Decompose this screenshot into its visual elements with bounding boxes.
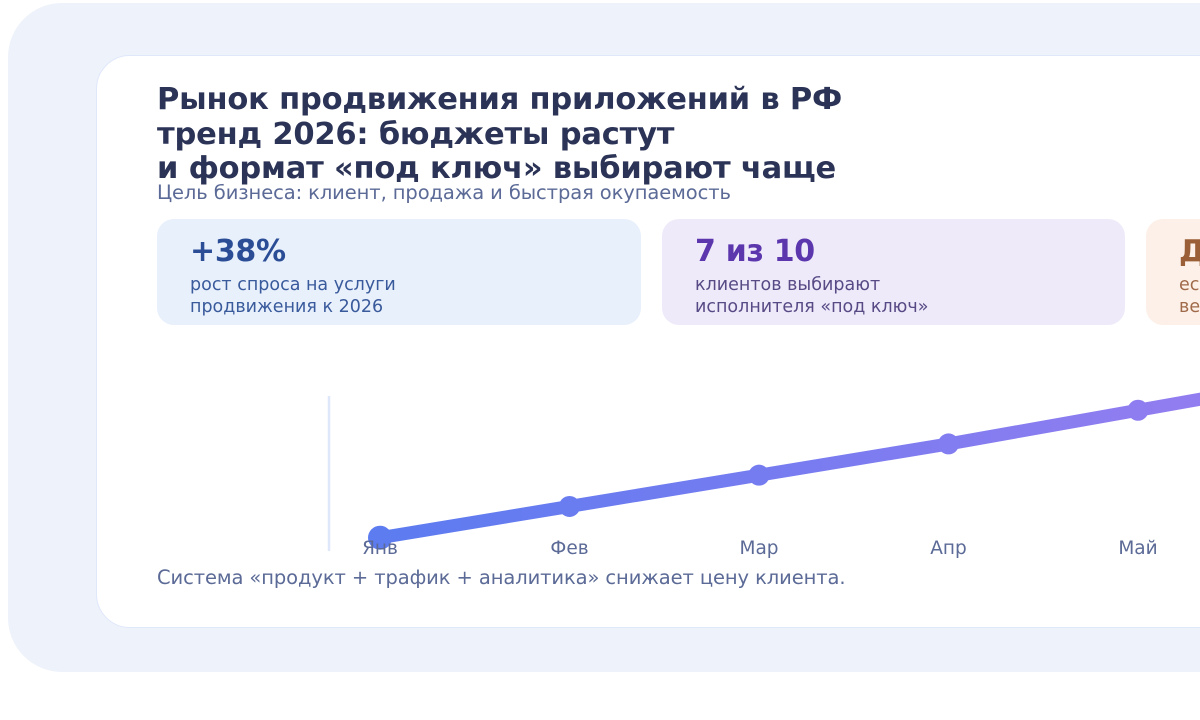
stat-value: +38% <box>190 234 619 270</box>
chart-marker <box>749 465 770 486</box>
chart-marker <box>559 496 580 517</box>
stat-value: 7 из 10 <box>695 234 1103 270</box>
chart-series-line <box>380 377 1200 538</box>
chart-svg <box>157 341 1200 551</box>
chart-x-tick-label: Мар <box>739 537 778 561</box>
chart-x-tick-label: Янв <box>362 537 398 561</box>
outer-shell: Рынок продвижения приложений в РФ тренд … <box>8 3 1200 672</box>
stat-card-turnkey: 7 из 10 клиентов выбирают исполнителя «п… <box>662 219 1125 325</box>
chart-marker <box>1128 400 1149 421</box>
slide-card: Рынок продвижения приложений в РФ тренд … <box>96 55 1200 628</box>
chart-x-tick-label: Фев <box>550 537 588 561</box>
stats-row: +38% рост спроса на услуги продвижения к… <box>157 219 1200 325</box>
chart-x-tick-label: Май <box>1118 537 1157 561</box>
stat-card-third: Д ес ве <box>1146 219 1200 325</box>
stat-description: клиентов выбирают исполнителя «под ключ» <box>695 274 1103 318</box>
footer-caption: Система «продукт + трафик + аналитика» с… <box>157 566 845 590</box>
chart-marker <box>938 433 959 454</box>
stat-value: Д <box>1179 234 1200 270</box>
page-subtitle: Цель бизнеса: клиент, продажа и быстрая … <box>157 181 731 205</box>
page-title: Рынок продвижения приложений в РФ тренд … <box>157 83 1157 187</box>
growth-line-chart: ЯнвФевМарАпрМайИюн <box>157 341 1200 551</box>
stat-description: ес ве <box>1179 274 1200 318</box>
chart-x-tick-labels: ЯнвФевМарАпрМайИюн <box>157 537 1200 567</box>
stat-card-growth: +38% рост спроса на услуги продвижения к… <box>157 219 641 325</box>
stat-description: рост спроса на услуги продвижения к 2026 <box>190 274 619 318</box>
chart-x-tick-label: Апр <box>930 537 967 561</box>
